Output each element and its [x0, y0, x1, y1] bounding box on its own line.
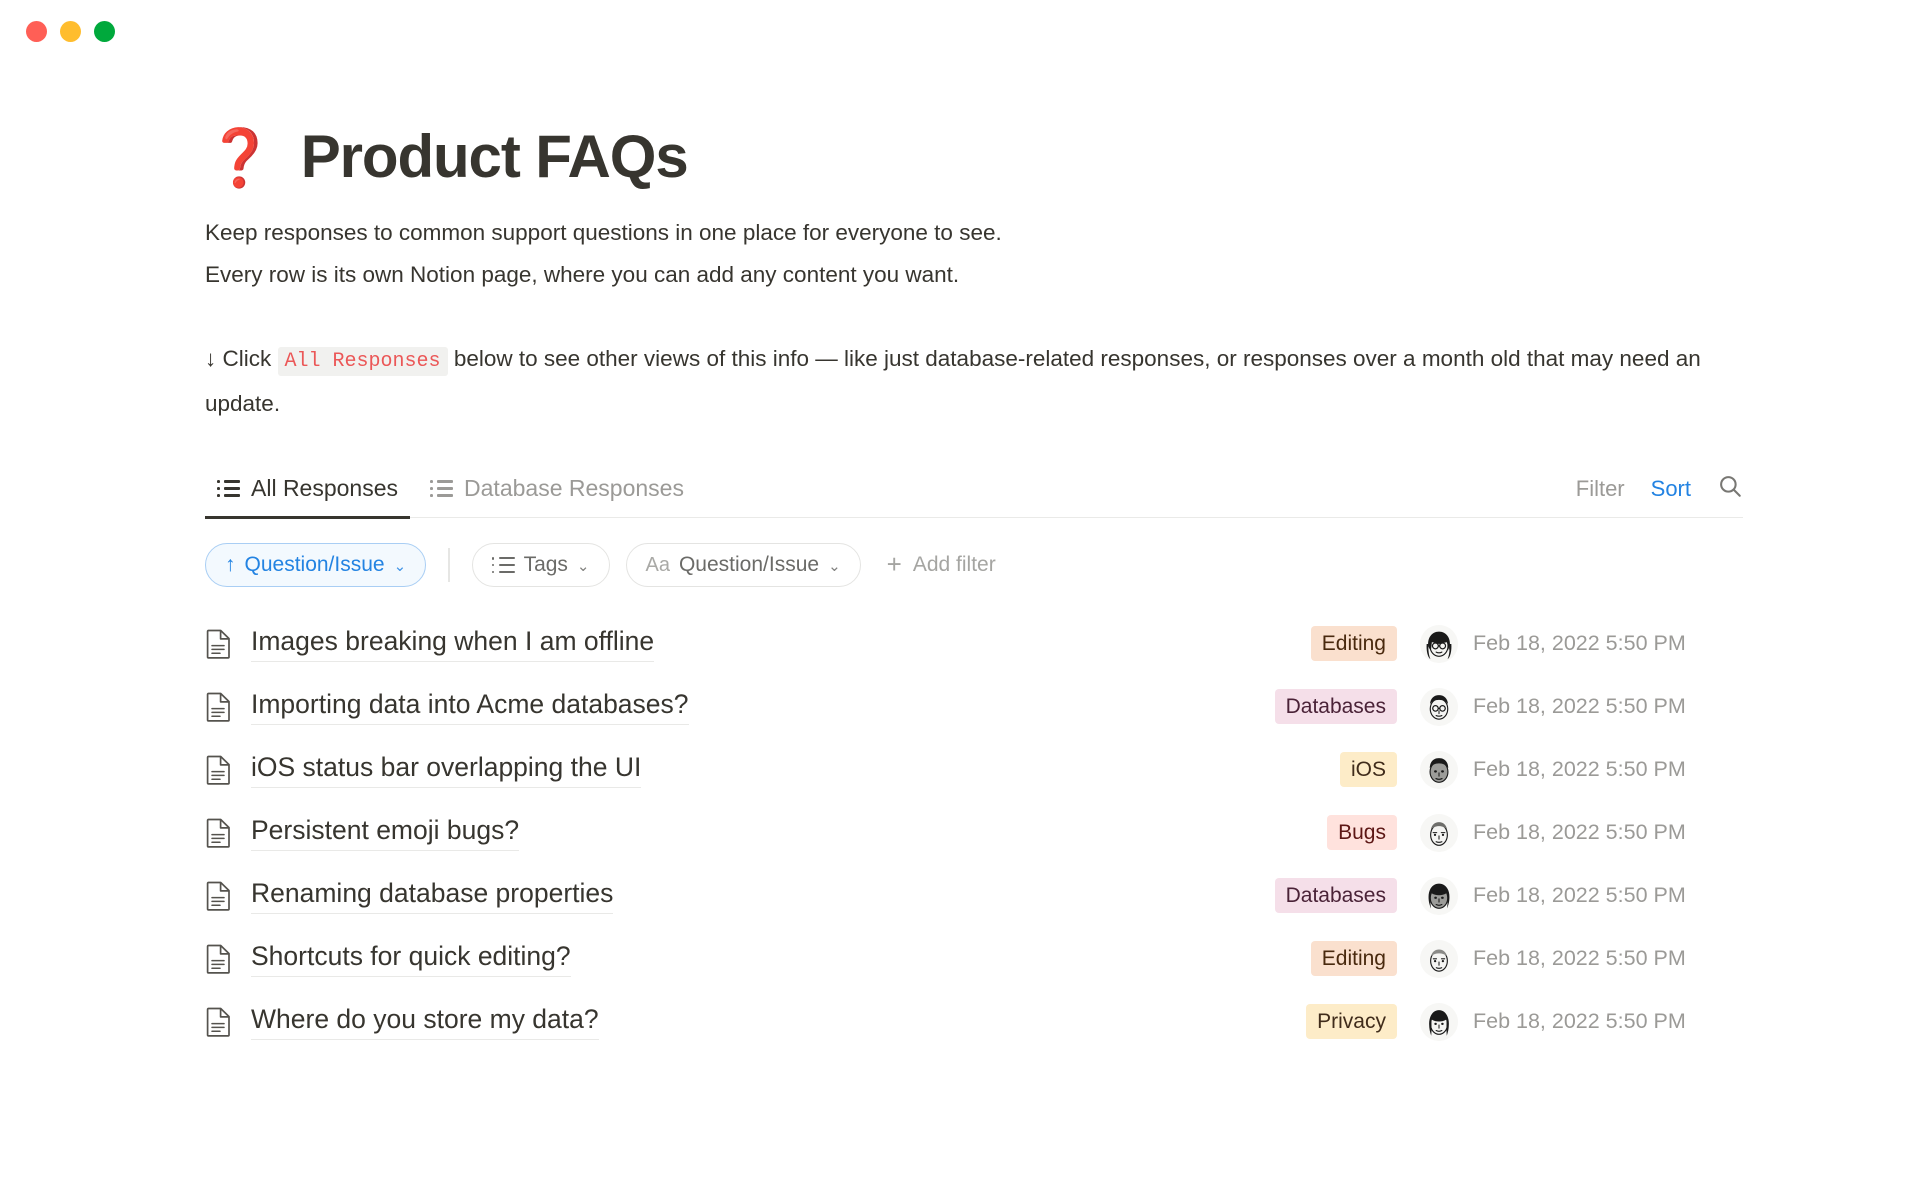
tab-all-responses[interactable]: All Responses — [205, 469, 410, 517]
avatar-cell — [1405, 814, 1473, 852]
text-property-icon: Aa — [646, 554, 670, 577]
filter-chip-question-issue-label: Question/Issue — [679, 553, 819, 577]
question-mark-icon: ❓ — [205, 131, 275, 187]
add-filter-label: Add filter — [913, 553, 996, 577]
page-icon — [205, 881, 251, 911]
page-icon — [205, 755, 251, 785]
tag-cell: Editing — [1175, 626, 1405, 661]
page-content: ❓ Product FAQs Keep responses to common … — [0, 62, 1920, 1053]
tag-cell: Bugs — [1175, 815, 1405, 850]
row-date: Feb 18, 2022 5:50 PM — [1473, 820, 1743, 845]
avatar-cell — [1405, 688, 1473, 726]
tab-database-responses[interactable]: Database Responses — [418, 469, 696, 517]
page-icon — [205, 629, 251, 659]
table-row[interactable]: Shortcuts for quick editing?EditingFeb 1… — [205, 927, 1743, 990]
row-date: Feb 18, 2022 5:50 PM — [1473, 694, 1743, 719]
chevron-down-icon: ⌄ — [577, 557, 590, 575]
row-date: Feb 18, 2022 5:50 PM — [1473, 1009, 1743, 1034]
tag-cell: Privacy — [1175, 1004, 1405, 1039]
avatar[interactable] — [1420, 1003, 1458, 1041]
tag-cell: Databases — [1175, 878, 1405, 913]
view-tabs: All Responses Database Responses — [205, 469, 696, 517]
status-badge[interactable]: Databases — [1275, 878, 1397, 913]
table-row[interactable]: Renaming database propertiesDatabasesFeb… — [205, 864, 1743, 927]
list-icon — [492, 557, 515, 573]
description-line-2: Every row is its own Notion page, where … — [205, 254, 1740, 296]
tag-cell: iOS — [1175, 752, 1405, 787]
filter-button[interactable]: Filter — [1576, 476, 1625, 502]
avatar[interactable] — [1420, 814, 1458, 852]
minimize-button[interactable] — [60, 21, 81, 42]
window-titlebar — [0, 0, 1920, 62]
view-toolbar: Filter Sort — [1576, 473, 1743, 517]
maximize-button[interactable] — [94, 21, 115, 42]
row-title[interactable]: Persistent emoji bugs? — [251, 814, 519, 851]
sort-ascending-icon: ↑ — [225, 553, 236, 577]
row-title[interactable]: iOS status bar overlapping the UI — [251, 751, 641, 788]
filter-chip-tags-label: Tags — [524, 553, 568, 577]
avatar[interactable] — [1420, 625, 1458, 663]
row-date: Feb 18, 2022 5:50 PM — [1473, 883, 1743, 908]
row-date: Feb 18, 2022 5:50 PM — [1473, 757, 1743, 782]
callout-prefix: ↓ Click — [205, 346, 271, 371]
avatar[interactable] — [1420, 940, 1458, 978]
add-filter-button[interactable]: + Add filter — [887, 552, 996, 578]
all-responses-code[interactable]: All Responses — [278, 347, 448, 376]
description-spacer — [205, 296, 1740, 338]
avatar-cell — [1405, 1003, 1473, 1041]
page-description: Keep responses to common support questio… — [205, 212, 1740, 425]
list-icon — [430, 480, 453, 496]
plus-icon: + — [887, 551, 902, 577]
table-row[interactable]: Where do you store my data?PrivacyFeb 18… — [205, 990, 1743, 1053]
status-badge[interactable]: Editing — [1311, 941, 1397, 976]
page-header: ❓ Product FAQs — [205, 124, 1740, 190]
status-badge[interactable]: Editing — [1311, 626, 1397, 661]
tag-cell: Databases — [1175, 689, 1405, 724]
avatar[interactable] — [1420, 751, 1458, 789]
status-badge[interactable]: Databases — [1275, 689, 1397, 724]
avatar[interactable] — [1420, 688, 1458, 726]
filter-chips-row: ↑ Question/Issue ⌄ Tags ⌄ Aa Question/Is… — [205, 542, 1740, 588]
callout-paragraph: ↓ Click All Responses below to see other… — [205, 338, 1740, 425]
avatar[interactable] — [1420, 877, 1458, 915]
row-date: Feb 18, 2022 5:50 PM — [1473, 946, 1743, 971]
table-row[interactable]: Persistent emoji bugs?BugsFeb 18, 2022 5… — [205, 801, 1743, 864]
row-title[interactable]: Images breaking when I am offline — [251, 625, 654, 662]
filter-chip-question-issue[interactable]: Aa Question/Issue ⌄ — [626, 543, 861, 587]
page-title: Product FAQs — [301, 124, 688, 190]
sort-button[interactable]: Sort — [1651, 476, 1691, 502]
list-icon — [217, 480, 240, 496]
table-row[interactable]: Importing data into Acme databases?Datab… — [205, 675, 1743, 738]
tab-all-responses-label: All Responses — [251, 475, 398, 502]
status-badge[interactable]: Privacy — [1306, 1004, 1397, 1039]
tag-cell: Editing — [1175, 941, 1405, 976]
close-button[interactable] — [26, 21, 47, 42]
row-title[interactable]: Importing data into Acme databases? — [251, 688, 689, 725]
response-list: Images breaking when I am offlineEditing… — [205, 612, 1743, 1053]
row-title[interactable]: Renaming database properties — [251, 877, 613, 914]
page-icon — [205, 692, 251, 722]
view-bar: All Responses Database Responses Filter … — [205, 469, 1743, 518]
page-icon — [205, 818, 251, 848]
status-badge[interactable]: iOS — [1340, 752, 1397, 787]
avatar-cell — [1405, 877, 1473, 915]
page-icon — [205, 1007, 251, 1037]
table-row[interactable]: iOS status bar overlapping the UIiOSFeb … — [205, 738, 1743, 801]
search-icon[interactable] — [1717, 473, 1743, 504]
avatar-cell — [1405, 940, 1473, 978]
chips-divider — [448, 548, 449, 582]
chevron-down-icon: ⌄ — [394, 557, 407, 575]
row-title[interactable]: Shortcuts for quick editing? — [251, 940, 571, 977]
tab-database-responses-label: Database Responses — [464, 475, 684, 502]
page-icon — [205, 944, 251, 974]
status-badge[interactable]: Bugs — [1327, 815, 1397, 850]
row-date: Feb 18, 2022 5:50 PM — [1473, 631, 1743, 656]
filter-chip-tags[interactable]: Tags ⌄ — [472, 543, 610, 587]
avatar-cell — [1405, 625, 1473, 663]
description-line-1: Keep responses to common support questio… — [205, 212, 1740, 254]
sort-chip-label: Question/Issue — [245, 553, 385, 577]
table-row[interactable]: Images breaking when I am offlineEditing… — [205, 612, 1743, 675]
row-title[interactable]: Where do you store my data? — [251, 1003, 599, 1040]
sort-chip-question-issue[interactable]: ↑ Question/Issue ⌄ — [205, 543, 426, 587]
chevron-down-icon: ⌄ — [828, 557, 841, 575]
avatar-cell — [1405, 751, 1473, 789]
